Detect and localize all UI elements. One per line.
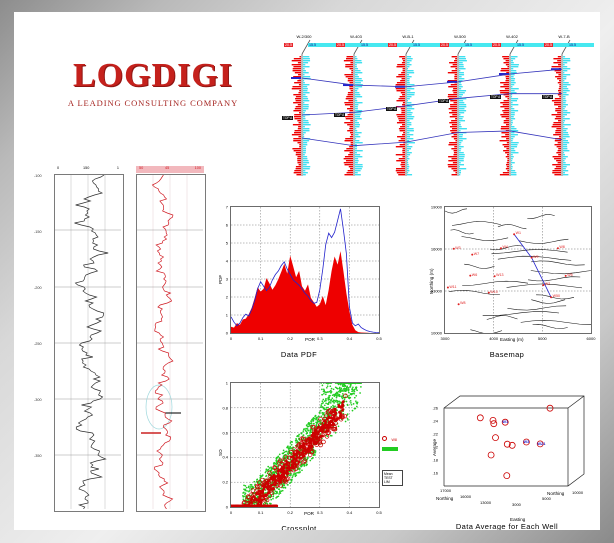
average3d-point-label[interactable]: W1 xyxy=(502,419,508,424)
basemap-y-tick: 19000 xyxy=(419,205,442,210)
track-1-scale-min: 0 xyxy=(57,166,59,170)
crossplot-y-tick: 0.6 xyxy=(214,430,228,435)
track-2-scale-min: 50 xyxy=(139,166,143,170)
pdf-y-tick: 6 xyxy=(218,223,228,228)
crossplot-x-tick: 0 xyxy=(230,510,232,515)
depth-tick-label: -250 xyxy=(34,342,42,346)
panel-data-pdf: 00.10.20.30.40.5 01234567 POR PDF Data P… xyxy=(204,198,394,370)
correlation-marker-label: TOP A xyxy=(334,113,345,117)
pdf-x-tick: 0.3 xyxy=(317,336,323,341)
basemap-plot-area[interactable]: W3W7W4W1W8W9W6W13W5W11W10W50W2W8 xyxy=(444,206,592,334)
crossplot-x-tick: 0.4 xyxy=(347,510,353,515)
depth-tick-label: -100 xyxy=(34,174,42,178)
pdf-x-tick: 0.5 xyxy=(376,336,382,341)
well-scale-left: 20.5 xyxy=(336,43,345,47)
well-scale-left: 20.5 xyxy=(284,43,293,47)
crossplot-x-axis-label: POR xyxy=(304,511,314,516)
average3d-y-axis-label: Northing xyxy=(436,496,453,501)
crossplot-y-tick: 0.8 xyxy=(214,405,228,410)
well-scale-left: 20.5 xyxy=(544,43,553,47)
stats-line-2: LIM xyxy=(384,480,401,484)
average3d-x-tick: 5000 xyxy=(542,496,551,501)
legend-swatch-green xyxy=(382,447,398,451)
panel-data-average-3d: .26.24.22.2.18.16 3000500010000170001600… xyxy=(414,374,600,530)
pdf-x-tick: 0.1 xyxy=(258,336,264,341)
pdf-y-tick: 5 xyxy=(218,241,228,246)
crossplot-x-tick: 0.1 xyxy=(258,510,264,515)
basemap-title: Basemap xyxy=(414,350,600,359)
crossplot-title: Crossplot xyxy=(204,524,394,530)
basemap-well-label[interactable]: W4 xyxy=(502,245,507,249)
crossplot-x-tick: 0.2 xyxy=(287,510,293,515)
basemap-y-tick: 10000 xyxy=(419,331,442,336)
basemap-x-tick: 6000 xyxy=(587,336,596,341)
basemap-x-tick: 4000 xyxy=(489,336,498,341)
average3d-x-tick: 10000 xyxy=(572,490,583,495)
well-scale-left: 20.5 xyxy=(440,43,449,47)
average3d-point-label[interactable]: W3 xyxy=(523,439,529,444)
log-track-panel: 0 150 1 xyxy=(36,164,208,516)
average3d-z-tick: .16 xyxy=(432,471,438,476)
legend-label: W8 xyxy=(391,438,396,442)
average3d-y-tick: 17000 xyxy=(440,488,451,493)
depth-tick-label: -150 xyxy=(34,230,42,234)
pdf-y-tick: 4 xyxy=(218,259,228,264)
average3d-z-tick: .26 xyxy=(432,406,438,411)
basemap-x-tick: 3000 xyxy=(441,336,450,341)
correlation-marker-label: TOP A xyxy=(282,116,293,120)
pdf-x-tick: 0.2 xyxy=(287,336,293,341)
pdf-title: Data PDF xyxy=(204,350,394,359)
pdf-x-axis-label: POR xyxy=(305,337,315,342)
average3d-z-tick: .22 xyxy=(432,432,438,437)
well-scale-left: 20.5 xyxy=(388,43,397,47)
crossplot-plot-area[interactable] xyxy=(230,382,380,508)
basemap-well-label[interactable]: W8 xyxy=(460,301,465,305)
basemap-well-label[interactable]: W1 xyxy=(516,231,521,235)
track-2-scale-mid: 45 xyxy=(165,166,169,170)
crossplot-y-tick: 0 xyxy=(214,505,228,510)
crossplot-graphic xyxy=(231,383,379,507)
correlation-marker-label: TOP A xyxy=(438,99,449,103)
pdf-y-tick: 7 xyxy=(218,205,228,210)
track-1-scale-max: 1 xyxy=(117,166,119,170)
log-track-2[interactable]: 50 45 100 xyxy=(136,174,206,512)
crossplot-x-tick: 0.3 xyxy=(317,510,323,515)
average3d-y2-axis-label: Northing xyxy=(547,491,564,496)
crossplot-x-tick: 0.5 xyxy=(376,510,382,515)
basemap-well-label[interactable]: W2 xyxy=(545,282,550,286)
company-logo: LOGDIGI A LEADING CONSULTING COMPANY xyxy=(48,58,258,108)
well-name-label: W-500 xyxy=(454,34,466,39)
basemap-well-label[interactable]: W5 xyxy=(567,273,572,277)
pdf-y-axis-label: PDF xyxy=(218,275,223,284)
pdf-x-tick: 0 xyxy=(230,336,232,341)
well-name-label: W-402 xyxy=(506,34,518,39)
crossplot-legend[interactable]: W8 xyxy=(382,428,398,451)
average3d-z-tick: .24 xyxy=(432,419,438,424)
depth-tick-label: -300 xyxy=(34,398,42,402)
logo-wordmark: LOGDIGI xyxy=(48,58,258,94)
well-name-label: W-7-B xyxy=(558,34,569,39)
basemap-well-label[interactable]: W11 xyxy=(449,285,456,289)
basemap-well-label[interactable]: W3 xyxy=(455,246,460,250)
legend-marker-icon xyxy=(382,436,387,441)
depth-tick-label: -350 xyxy=(34,454,42,458)
well-correlation-panel: W-2/30020.515.5TOP AW-40320.515.5TOP AW-… xyxy=(280,26,598,178)
basemap-well-label[interactable]: W7 xyxy=(474,252,479,256)
average3d-z-axis-label: Average xyxy=(432,439,437,456)
basemap-well-label[interactable]: W9 xyxy=(533,255,538,259)
track-2-header: 50 45 100 xyxy=(137,166,203,174)
correlation-marker-label: TOP A xyxy=(386,107,397,111)
basemap-well-label[interactable]: W50 xyxy=(553,294,560,298)
correlation-marker-label: TOP A xyxy=(542,95,553,99)
pdf-graphic xyxy=(231,207,379,333)
track-1-header: 0 150 1 xyxy=(55,166,121,174)
window-frame: LOGDIGI A LEADING CONSULTING COMPANY W-2… xyxy=(0,0,614,543)
average3d-y-tick: 16000 xyxy=(460,494,471,499)
track-2-scale-max: 100 xyxy=(195,166,201,170)
well-scale-left: 20.5 xyxy=(492,43,501,47)
well-name-label: W-403 xyxy=(350,34,362,39)
well-scale-right: 15.5 xyxy=(568,43,594,47)
basemap-y-tick: 16000 xyxy=(419,247,442,252)
average3d-point-label[interactable]: W21 xyxy=(537,441,545,446)
crossplot-y-axis-label: SO xyxy=(218,449,223,456)
well-name-label: W-2/300 xyxy=(296,34,311,39)
crossplot-y-tick: 1 xyxy=(214,381,228,386)
pdf-y-tick: 2 xyxy=(218,295,228,300)
basemap-well-label[interactable]: W6 xyxy=(472,273,477,277)
basemap-well-label[interactable]: W8 xyxy=(559,245,564,249)
average3d-x-tick: 3000 xyxy=(512,502,521,507)
correlation-marker-label: TOP A xyxy=(490,95,501,99)
depth-tick-label: -200 xyxy=(34,286,42,290)
pdf-y-tick: 1 xyxy=(218,313,228,318)
pdf-x-tick: 0.4 xyxy=(347,336,353,341)
logo-tagline: A LEADING CONSULTING COMPANY xyxy=(48,98,258,108)
log-track-1[interactable]: 0 150 1 xyxy=(54,174,124,512)
report-canvas: LOGDIGI A LEADING CONSULTING COMPANY W-2… xyxy=(14,12,600,530)
basemap-x-axis-label: Easting (m) xyxy=(500,337,524,342)
pdf-y-tick: 0 xyxy=(218,331,228,336)
track-1-scale-mid: 150 xyxy=(83,166,89,170)
basemap-graphic xyxy=(445,207,591,333)
average3d-title: Data Average for Each Well xyxy=(414,522,600,530)
average3d-y-tick: 13000 xyxy=(480,500,491,505)
crossplot-y-tick: 0.2 xyxy=(214,480,228,485)
pdf-plot-area[interactable] xyxy=(230,206,380,334)
crossplot-stats-box: Mean TEST LIM xyxy=(382,470,403,486)
panel-crossplot: 00.10.20.30.40.5 00.20.40.60.81 POR SO W… xyxy=(204,374,400,530)
average3d-z-tick: .18 xyxy=(432,458,438,463)
basemap-x-tick: 5000 xyxy=(538,336,547,341)
basemap-well-label[interactable]: W13 xyxy=(496,273,503,277)
basemap-y-axis-label: Northing (m) xyxy=(429,268,434,294)
basemap-well-label[interactable]: W10 xyxy=(490,290,497,294)
panel-basemap: W3W7W4W1W8W9W6W13W5W11W10W50W2W8 3000400… xyxy=(414,198,600,370)
well-name-label: W-B-1 xyxy=(402,34,413,39)
